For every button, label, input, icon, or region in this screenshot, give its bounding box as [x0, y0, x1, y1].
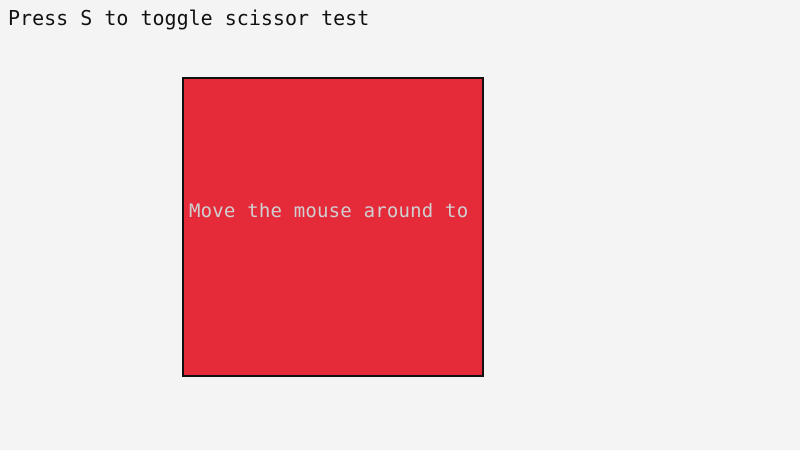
scissor-test-instruction-label: Press S to toggle scissor test	[8, 6, 369, 30]
scissor-clipped-text-label: Move the mouse around to r	[189, 200, 484, 222]
app-canvas: Press S to toggle scissor test Move the …	[0, 0, 800, 450]
scissor-test-rectangle[interactable]: Move the mouse around to r	[182, 77, 484, 377]
